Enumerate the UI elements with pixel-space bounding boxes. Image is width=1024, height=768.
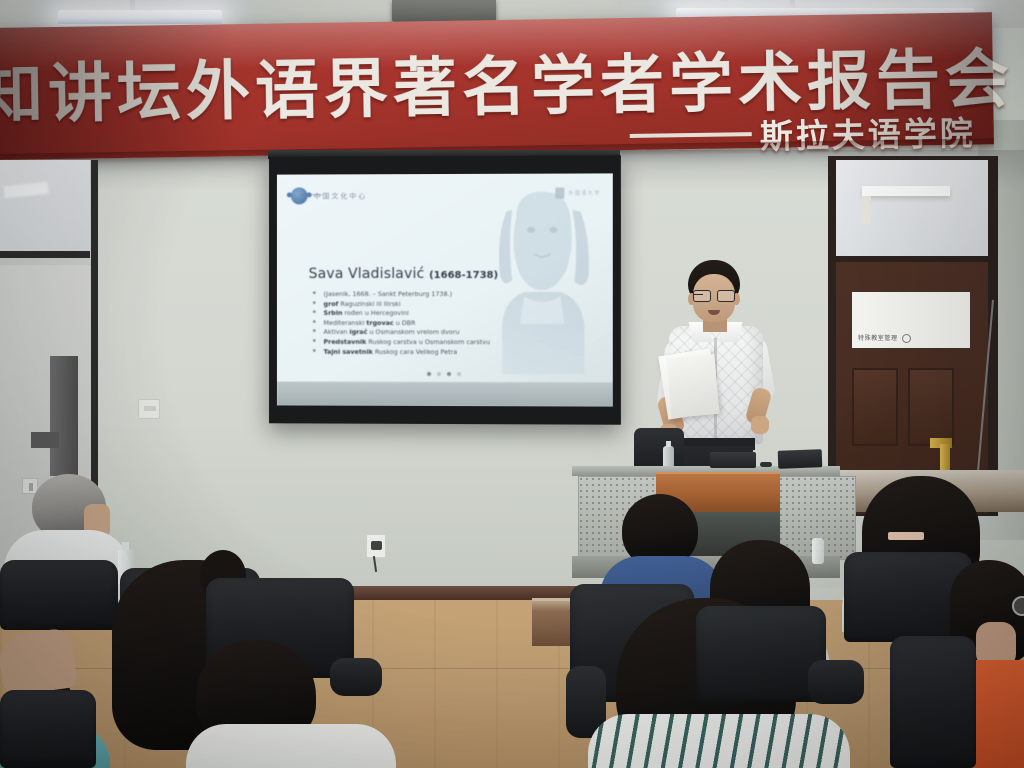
door-sign-text: 特殊教室管理: [858, 333, 898, 342]
projection-screen-frame: 中国文化中心 外国语大学: [269, 155, 621, 424]
mouse-icon: [760, 462, 772, 467]
chair-armrest: [808, 660, 864, 704]
slide-pagination: [427, 372, 461, 376]
glass-glint: [3, 182, 48, 199]
monitor-left: [710, 452, 756, 468]
slide-bullet: Srbin rođen u Hercegovini: [313, 309, 563, 319]
monitor-right: [778, 449, 823, 469]
transom-shelf-edge: [862, 196, 871, 224]
shoulders: [588, 714, 850, 768]
lecture-hall-photo: 知讲坛外语界著名学者学术报告会 斯拉夫语学院 特殊教室管理: [0, 0, 1024, 768]
glasses-bridge: [693, 294, 703, 295]
event-banner: 知讲坛外语界著名学者学术报告会 斯拉夫语学院: [0, 12, 994, 160]
right-transom-window: [836, 160, 988, 256]
stamp-icon: [902, 334, 911, 343]
ceiling-light-left: [58, 10, 222, 24]
slide-bullet: Mediteranski trgovac u DBR: [313, 319, 563, 329]
wall-outlet-icon: [366, 534, 386, 558]
pagination-dot: [457, 372, 461, 376]
door-panel-left: [852, 368, 898, 446]
chair: [890, 636, 976, 768]
slide-bullet: Tajni savetnik Ruskog cara Velikog Petra: [313, 347, 563, 357]
left-door-latch-icon[interactable]: [31, 432, 59, 448]
slide-footer-bar: [277, 382, 613, 407]
door-sign: 特殊教室管理: [852, 292, 970, 348]
stage-chair[interactable]: [634, 428, 684, 470]
chair: [696, 606, 826, 702]
institute-logo-icon: [291, 187, 308, 204]
slide-bullet: Predstavnik Ruskog carstva u Osmanskom c…: [313, 338, 563, 348]
slide-title: Sava Vladislavić (1668-1738): [309, 266, 499, 282]
slide-bullet: Aktivan igrač u Osmanskom vrelom dvoru: [313, 328, 563, 338]
presenter-hand-right: [751, 416, 769, 434]
door-panel-right: [908, 368, 954, 446]
chair: [0, 690, 96, 768]
presenter-paper-front: [666, 354, 719, 418]
projection-screen: 中国文化中心 外国语大学: [277, 173, 613, 406]
slide-logo-left: 中国文化中心: [291, 187, 367, 204]
left-transom-window: [0, 160, 90, 258]
slide-bullet: grof Raguzinski ili Ilirski: [313, 300, 563, 310]
left-door-handle-icon[interactable]: [50, 356, 78, 476]
slide-bullet: (Jasenik, 1668. – Sankt Peterburg 1738.): [313, 290, 563, 300]
pagination-dot: [437, 372, 441, 376]
transom-shelf: [862, 186, 950, 196]
pagination-dot: [447, 372, 451, 376]
presentation-slide: 中国文化中心 外国语大学: [277, 173, 613, 406]
slide-logo-left-text: 中国文化中心: [314, 191, 368, 201]
raised-arm: [0, 627, 78, 697]
shoulders: [186, 724, 396, 768]
slide-bullet-list: (Jasenik, 1668. – Sankt Peterburg 1738.)…: [313, 290, 563, 357]
slide-title-years: (1668-1738): [429, 270, 498, 281]
hair-clip-icon: [888, 532, 924, 540]
slide-logo-underline: [301, 194, 323, 195]
banner-rule: [630, 132, 752, 138]
wall-light-switch[interactable]: [138, 399, 160, 419]
pagination-dot: [427, 372, 431, 376]
slide-title-name: Sava Vladislavić: [309, 266, 425, 282]
person-woman-left-2: [196, 640, 386, 768]
